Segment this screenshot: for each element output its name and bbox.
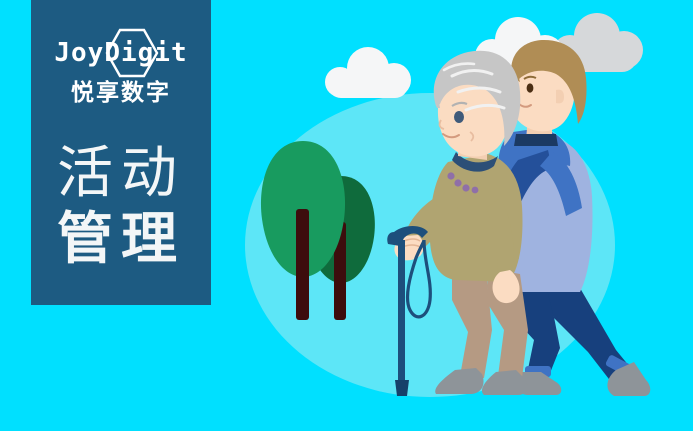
page-title: 活动 管理 — [31, 140, 211, 272]
logo-subtitle: 悦享数字 — [31, 76, 211, 108]
cane-tip — [395, 380, 409, 396]
page-title-line-1: 活动 — [31, 140, 211, 206]
young-man-collar — [514, 134, 558, 146]
logo-block: JoyDigit 悦享数字 — [31, 26, 211, 122]
poster-canvas: JoyDigit 悦享数字 活动 管理 — [0, 0, 693, 431]
brand-panel: JoyDigit 悦享数字 活动 管理 — [31, 0, 211, 305]
page-title-line-2: 管理 — [31, 206, 211, 272]
young-man-eye — [527, 83, 534, 92]
young-man-ear — [556, 90, 564, 104]
elderly-eye — [454, 111, 464, 123]
cloud-left — [325, 47, 411, 98]
logo-wordmark: JoyDigit — [31, 34, 211, 72]
cane-shaft — [398, 240, 405, 392]
